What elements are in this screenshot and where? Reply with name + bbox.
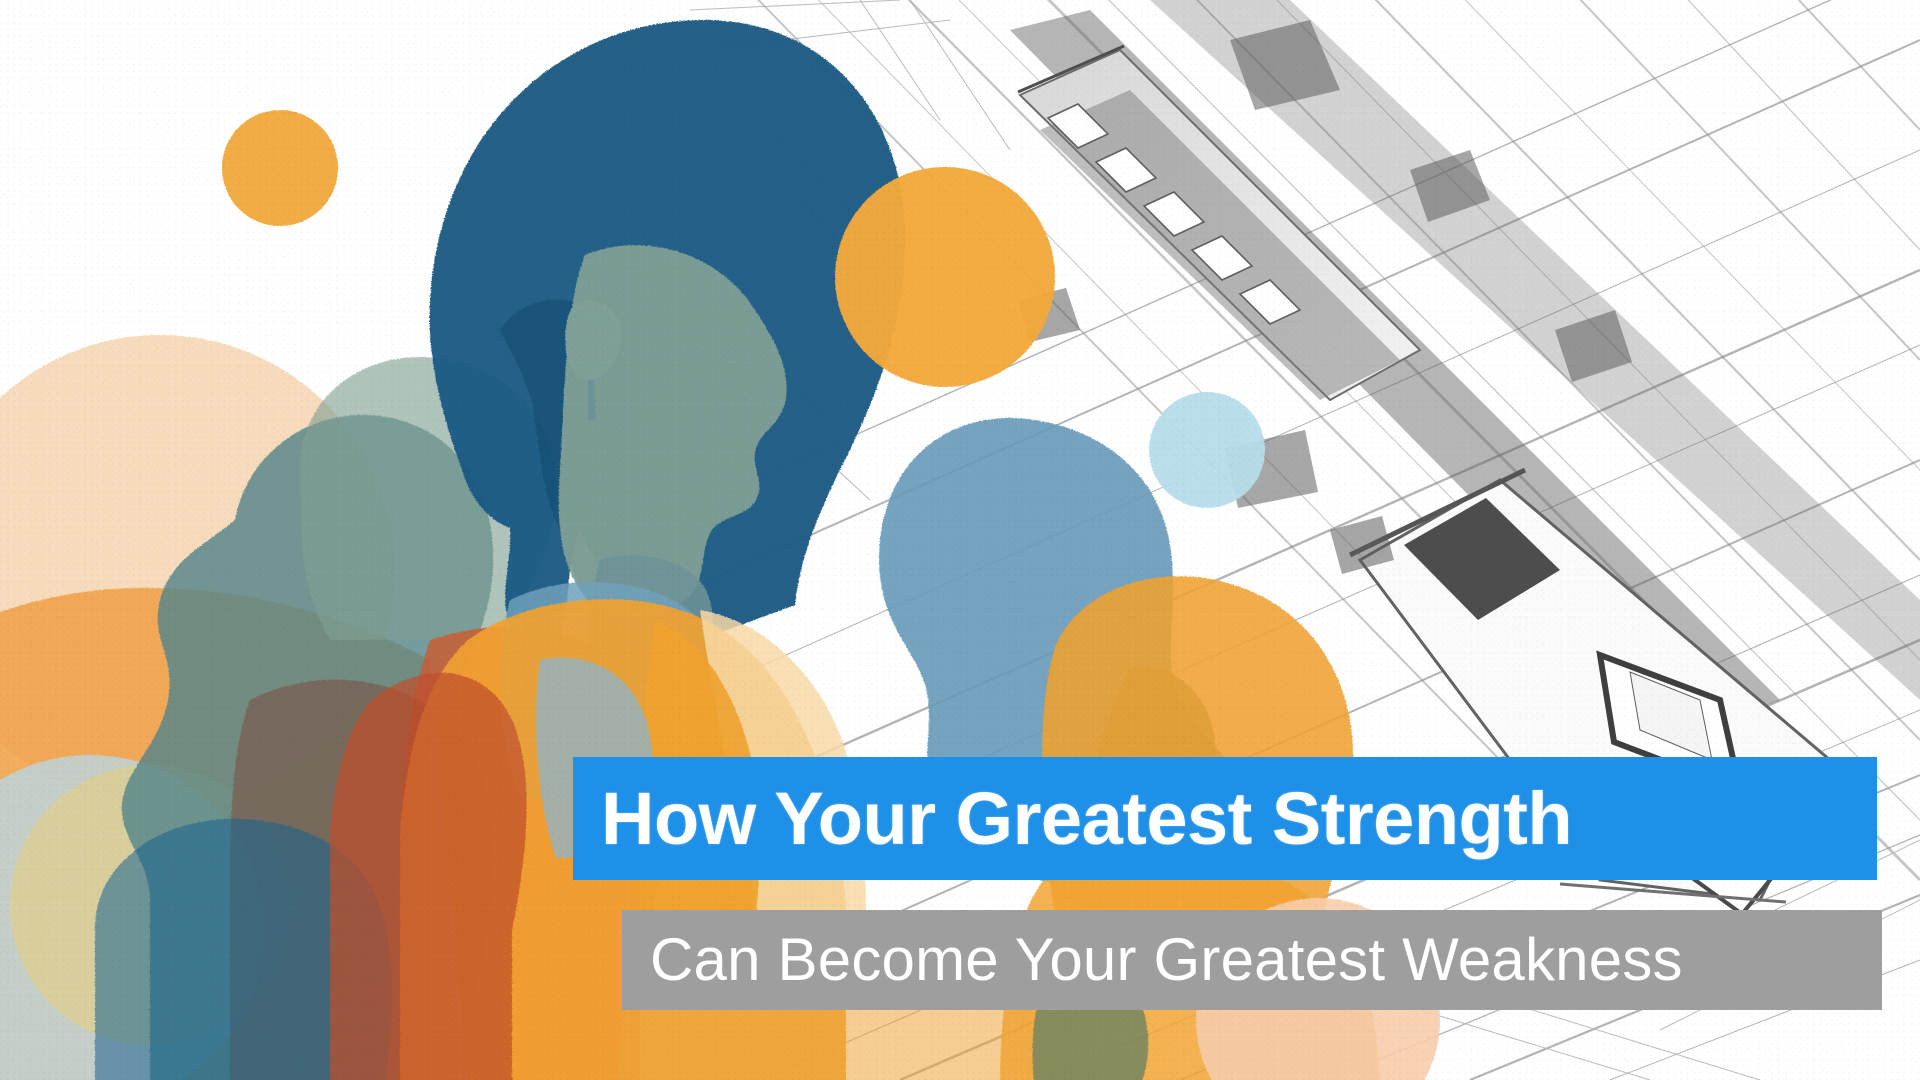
hero-banner-image: How Your Greatest Strength Can Become Yo…: [0, 0, 1920, 1080]
subheadline-text: Can Become Your Greatest Weakness: [622, 930, 1683, 990]
headline-text: How Your Greatest Strength: [573, 782, 1572, 856]
large-orange-circle: [835, 167, 1055, 387]
pale-blue-circle: [1149, 392, 1265, 508]
blazer-rust-panel: [330, 673, 527, 1080]
headline-banner: How Your Greatest Strength: [573, 757, 1877, 880]
small-orange-circle: [222, 110, 338, 226]
subheadline-banner: Can Become Your Greatest Weakness: [622, 910, 1882, 1010]
